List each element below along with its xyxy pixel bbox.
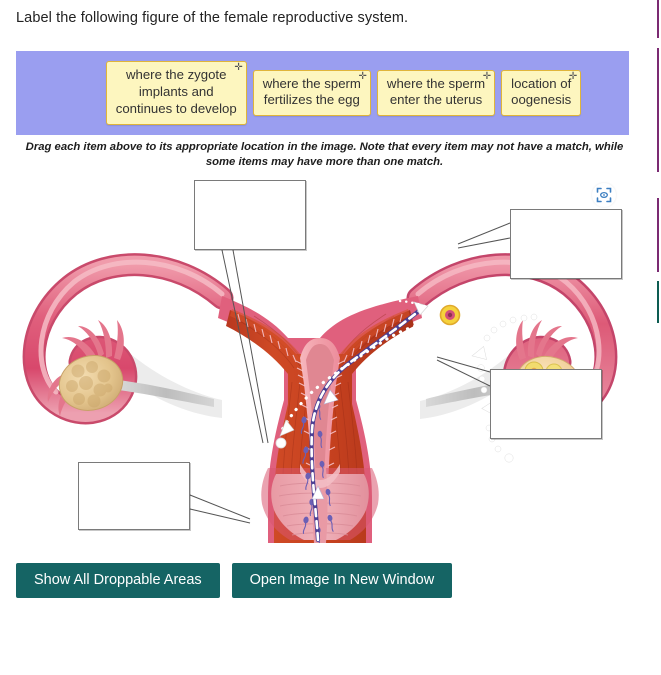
- expand-image-button[interactable]: [592, 183, 616, 207]
- drag-handle-icon[interactable]: ✛: [483, 72, 491, 82]
- drag-item-line: where the zygote: [116, 67, 237, 84]
- draggable-items-tray: ✛ where the zygote implants and continue…: [16, 51, 629, 135]
- dropbox-ovary[interactable]: [490, 369, 602, 439]
- drag-item-line: fertilizes the egg: [263, 92, 361, 109]
- drag-item-line: enter the uterus: [387, 92, 485, 109]
- drag-item-line: implants and: [116, 84, 237, 101]
- drag-instruction-text: Drag each item above to its appropriate …: [12, 140, 637, 171]
- drag-item-line: location of: [511, 76, 571, 93]
- drag-item-line: where the sperm: [263, 76, 361, 93]
- page-title: Label the following figure of the female…: [16, 10, 408, 26]
- assignment-question-panel: Label the following figure of the female…: [0, 0, 661, 675]
- edge-accent-teal: [657, 281, 659, 323]
- drag-item-location-of-oogenesis[interactable]: ✛ location of oogenesis: [501, 70, 581, 117]
- show-all-droppable-areas-button[interactable]: Show All Droppable Areas: [16, 563, 220, 598]
- expand-image-icon: [596, 187, 612, 203]
- drag-item-line: continues to develop: [116, 101, 237, 118]
- edge-accent-purple-mid: [657, 48, 659, 172]
- drag-handle-icon[interactable]: ✛: [569, 72, 577, 82]
- dropbox-vagina-cervix[interactable]: [78, 462, 190, 530]
- drag-item-line: where the sperm: [387, 76, 485, 93]
- drag-handle-icon[interactable]: ✛: [359, 72, 367, 82]
- open-image-in-new-window-button[interactable]: Open Image In New Window: [232, 563, 453, 598]
- drag-item-zygote-implants[interactable]: ✛ where the zygote implants and continue…: [106, 61, 247, 125]
- figure-action-buttons: Show All Droppable Areas Open Image In N…: [16, 563, 452, 598]
- dropbox-uterine-cavity[interactable]: [194, 180, 306, 250]
- drag-handle-icon[interactable]: ✛: [234, 63, 242, 73]
- dropbox-fallopian-tube-ampulla[interactable]: [510, 209, 622, 279]
- edge-accent-purple-lower: [657, 198, 659, 272]
- drag-item-line: oogenesis: [511, 92, 571, 109]
- drag-item-sperm-fertilizes-egg[interactable]: ✛ where the sperm fertilizes the egg: [253, 70, 371, 117]
- edge-accent-purple-top: [657, 0, 659, 38]
- drag-item-sperm-enter-uterus[interactable]: ✛ where the sperm enter the uterus: [377, 70, 495, 117]
